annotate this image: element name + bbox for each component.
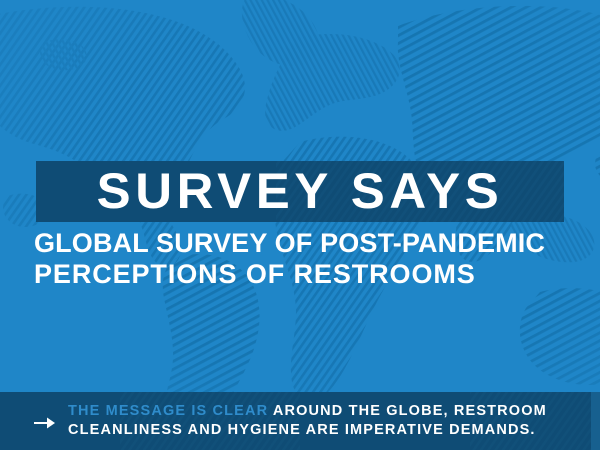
- world-map-background: [0, 0, 600, 450]
- subtitle: GLOBAL SURVEY OF POST-PANDEMIC PERCEPTIO…: [34, 228, 568, 290]
- arrow-right-icon: [34, 416, 56, 430]
- poster: SURVEY SAYS GLOBAL SURVEY OF POST-PANDEM…: [0, 0, 600, 450]
- title-bar: SURVEY SAYS: [36, 161, 564, 222]
- message-banner: THE MESSAGE IS CLEAR AROUND THE GLOBE, R…: [0, 392, 600, 450]
- banner-lead-text: THE MESSAGE IS CLEAR: [68, 403, 268, 419]
- page-title: SURVEY SAYS: [36, 161, 564, 222]
- subtitle-line-1: GLOBAL SURVEY OF POST-PANDEMIC: [34, 228, 568, 259]
- subtitle-line-2: PERCEPTIONS OF RESTROOMS: [34, 259, 568, 290]
- banner-message: THE MESSAGE IS CLEAR AROUND THE GLOBE, R…: [68, 402, 600, 440]
